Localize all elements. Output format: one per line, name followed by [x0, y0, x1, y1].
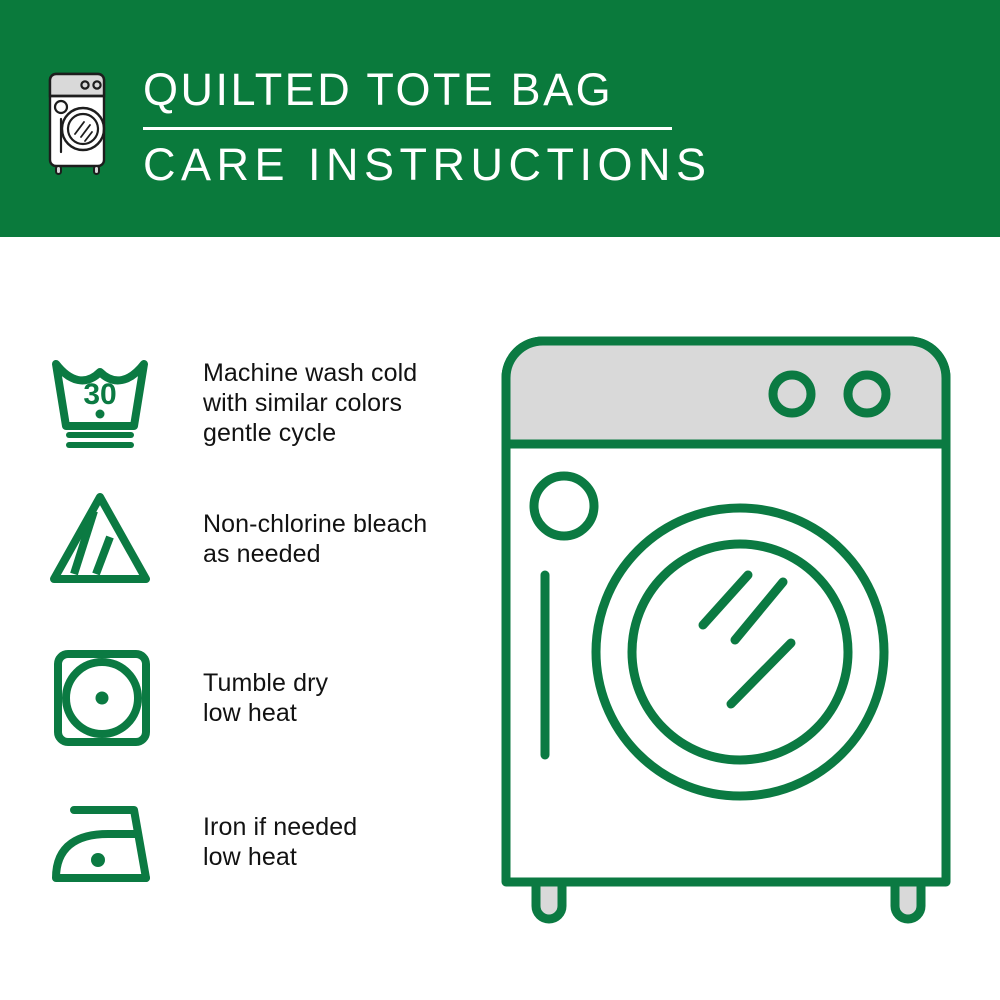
- header-title-group: QUILTED TOTE BAG CARE INSTRUCTIONS: [143, 62, 843, 191]
- washing-machine-icon: [44, 66, 112, 176]
- iron-low-heat-icon: [48, 798, 163, 898]
- tumble-dry-low-icon: [48, 648, 163, 748]
- care-item-iron: Iron if needed low heat: [48, 798, 478, 898]
- care-item-tumble-dry: Tumble dry low heat: [48, 648, 478, 748]
- care-item-machine-wash: 30 Machine wash cold with similar colors…: [48, 352, 478, 452]
- header-banner: QUILTED TOTE BAG CARE INSTRUCTIONS: [0, 0, 1000, 237]
- care-item-label: Non-chlorine bleach as needed: [203, 489, 427, 569]
- page-title: QUILTED TOTE BAG: [143, 62, 843, 118]
- title-divider: [143, 127, 672, 130]
- page-subtitle: CARE INSTRUCTIONS: [143, 139, 843, 191]
- wash-temperature-label: 30: [83, 378, 116, 411]
- machine-control-panel: [506, 341, 946, 444]
- care-item-label: Tumble dry low heat: [203, 648, 328, 728]
- bleach-triangle-icon: [48, 489, 163, 589]
- machine-leg-left: [536, 882, 562, 919]
- care-instructions-infographic: QUILTED TOTE BAG CARE INSTRUCTIONS 30 Ma…: [0, 0, 1000, 1000]
- care-item-non-chlorine-bleach: Non-chlorine bleach as needed: [48, 489, 478, 589]
- machine-leg-right: [895, 882, 921, 919]
- care-item-label: Iron if needed low heat: [203, 798, 357, 872]
- wash-tub-30-icon: 30: [48, 352, 163, 452]
- washing-machine-illustration: [495, 330, 970, 930]
- care-item-label: Machine wash cold with similar colors ge…: [203, 352, 417, 448]
